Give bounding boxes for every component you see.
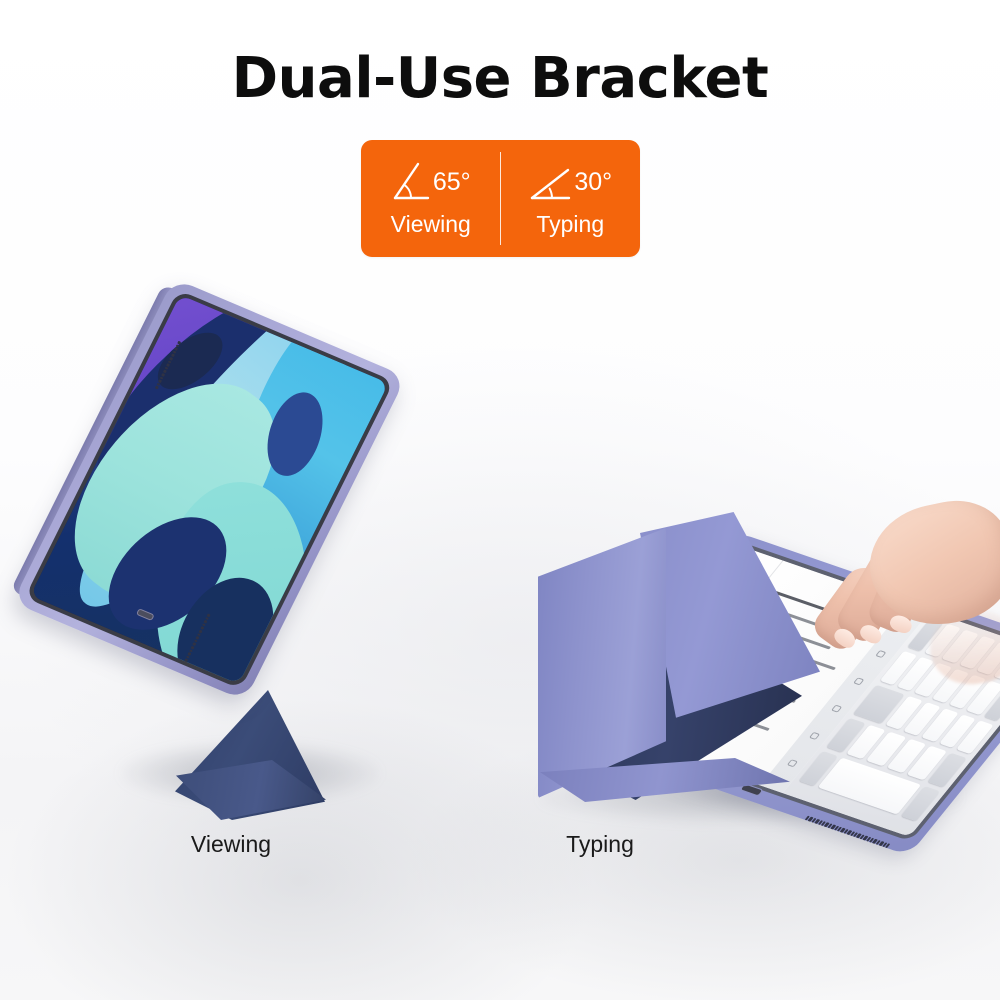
caption-viewing: Viewing: [185, 831, 277, 858]
speaker-hole: [191, 646, 195, 649]
speaker-hole: [158, 379, 162, 382]
angle-row-viewing: 65°: [361, 156, 501, 208]
speaker-hole: [161, 373, 165, 376]
caption-typing: Typing: [556, 831, 644, 858]
scene-viewing: [0, 290, 420, 850]
speaker-hole: [204, 620, 208, 623]
typing-hand-icon: [812, 498, 1000, 688]
badge-cell-typing: 30° Typing: [501, 140, 641, 257]
angle-row-typing: 30°: [501, 156, 641, 208]
speaker-hole: [187, 652, 191, 655]
speaker-hole: [177, 341, 181, 344]
angle-badge: 65° Viewing 30° Typing: [361, 140, 640, 257]
toolbar-icon[interactable]: [831, 704, 842, 712]
product-feature-image: Dual-Use Bracket 65° Viewing: [0, 0, 1000, 1000]
speaker-hole: [169, 357, 173, 360]
speaker-hole: [174, 347, 178, 350]
toolbar-icon[interactable]: [809, 732, 820, 740]
badge-label-typing: Typing: [536, 213, 604, 236]
toolbar-icon[interactable]: [787, 759, 798, 767]
speaker-hole: [199, 630, 203, 633]
speaker-hole: [166, 363, 170, 366]
page-title: Dual-Use Bracket: [0, 46, 1000, 111]
viewing-screen: [30, 295, 388, 684]
speaker-hole: [195, 636, 199, 639]
badge-label-viewing: Viewing: [391, 213, 471, 236]
angle-value-typing: 30°: [574, 170, 612, 195]
speaker-hole: [155, 386, 159, 389]
badge-cell-viewing: 65° Viewing: [361, 140, 501, 257]
viewing-tablet: [12, 278, 406, 701]
viewing-screen-bezel: [25, 290, 394, 689]
angle-30-icon: [528, 160, 572, 204]
speaker-hole: [207, 614, 211, 617]
angle-65-icon: [391, 160, 431, 204]
speaker-hole: [184, 659, 188, 662]
angle-value-viewing: 65°: [433, 170, 471, 195]
viewing-case-shell: [12, 278, 406, 701]
